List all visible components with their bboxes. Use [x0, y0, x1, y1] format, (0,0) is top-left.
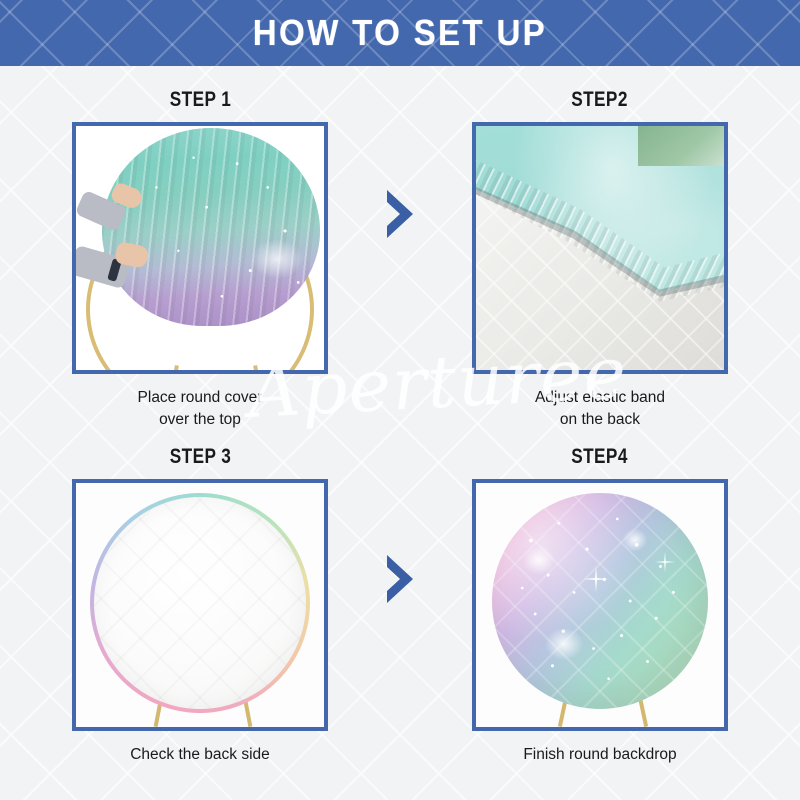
step-card-4: STEP4 Finish rou	[400, 433, 800, 800]
twinkle-star-icon	[654, 552, 675, 573]
background-foliage	[638, 126, 724, 166]
step-3-caption: Check the back side	[130, 744, 270, 766]
step-2-label: STEP2	[572, 88, 629, 112]
step-3-photo-frame	[72, 479, 328, 731]
step-2-photo	[476, 126, 724, 370]
header-banner: HOW TO SET UP	[0, 0, 800, 66]
step-4-caption: Finish round backdrop	[523, 744, 676, 766]
step-2-caption: Adjust elastic band on the back	[535, 387, 665, 432]
step-3-label: STEP 3	[169, 445, 230, 469]
star-sparkles	[492, 493, 708, 709]
finished-backdrop-circle	[492, 493, 708, 709]
step-1-caption: Place round cover over the top	[138, 387, 263, 432]
step-2-photo-frame	[472, 122, 728, 374]
chevron-right-icon	[383, 553, 417, 605]
steps-grid: STEP 1	[0, 66, 800, 800]
step-4-photo-frame	[472, 479, 728, 731]
pastel-rim	[90, 493, 310, 713]
step-card-1: STEP 1	[0, 66, 400, 433]
step-4-photo	[476, 483, 724, 727]
twinkle-star-icon	[583, 566, 609, 592]
step-4-label: STEP4	[572, 445, 629, 469]
step-1-photo	[76, 126, 324, 370]
step-1-photo-frame	[72, 122, 328, 374]
step-card-2: STEP2 Adjust elastic band on the back	[400, 66, 800, 433]
how-to-set-up-infographic: HOW TO SET UP Aperturee STEP 1	[0, 0, 800, 800]
step-3-photo	[76, 483, 324, 727]
step-1-label: STEP 1	[169, 88, 230, 112]
step-card-3: STEP 3 Check the back side	[0, 433, 400, 800]
page-title: HOW TO SET UP	[253, 12, 547, 54]
gradient-cover-fabric	[102, 128, 320, 326]
chevron-right-icon	[383, 188, 417, 240]
